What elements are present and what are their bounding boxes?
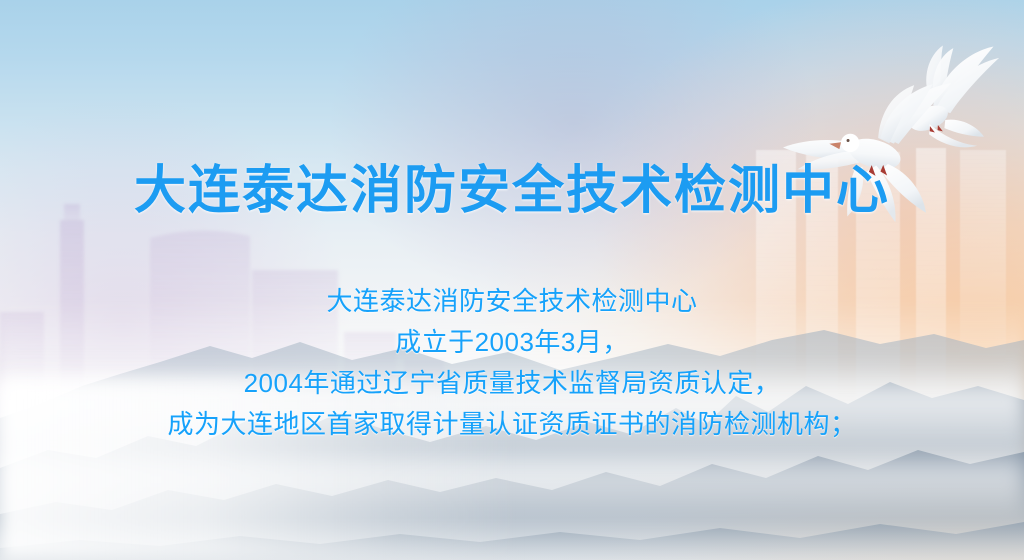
- description-line: 成立于2003年3月，: [0, 322, 1024, 363]
- banner-description: 大连泰达消防安全技术检测中心 成立于2003年3月， 2004年通过辽宁省质量技…: [0, 281, 1024, 445]
- banner-content: 大连泰达消防安全技术检测中心 大连泰达消防安全技术检测中心 成立于2003年3月…: [0, 0, 1024, 560]
- hero-banner: 大连泰达消防安全技术检测中心 大连泰达消防安全技术检测中心 成立于2003年3月…: [0, 0, 1024, 560]
- description-line: 成为大连地区首家取得计量认证资质证书的消防检测机构；: [0, 404, 1024, 445]
- description-line: 2004年通过辽宁省质量技术监督局资质认定，: [0, 363, 1024, 404]
- description-line: 大连泰达消防安全技术检测中心: [0, 281, 1024, 322]
- page-title: 大连泰达消防安全技术检测中心: [0, 162, 1024, 222]
